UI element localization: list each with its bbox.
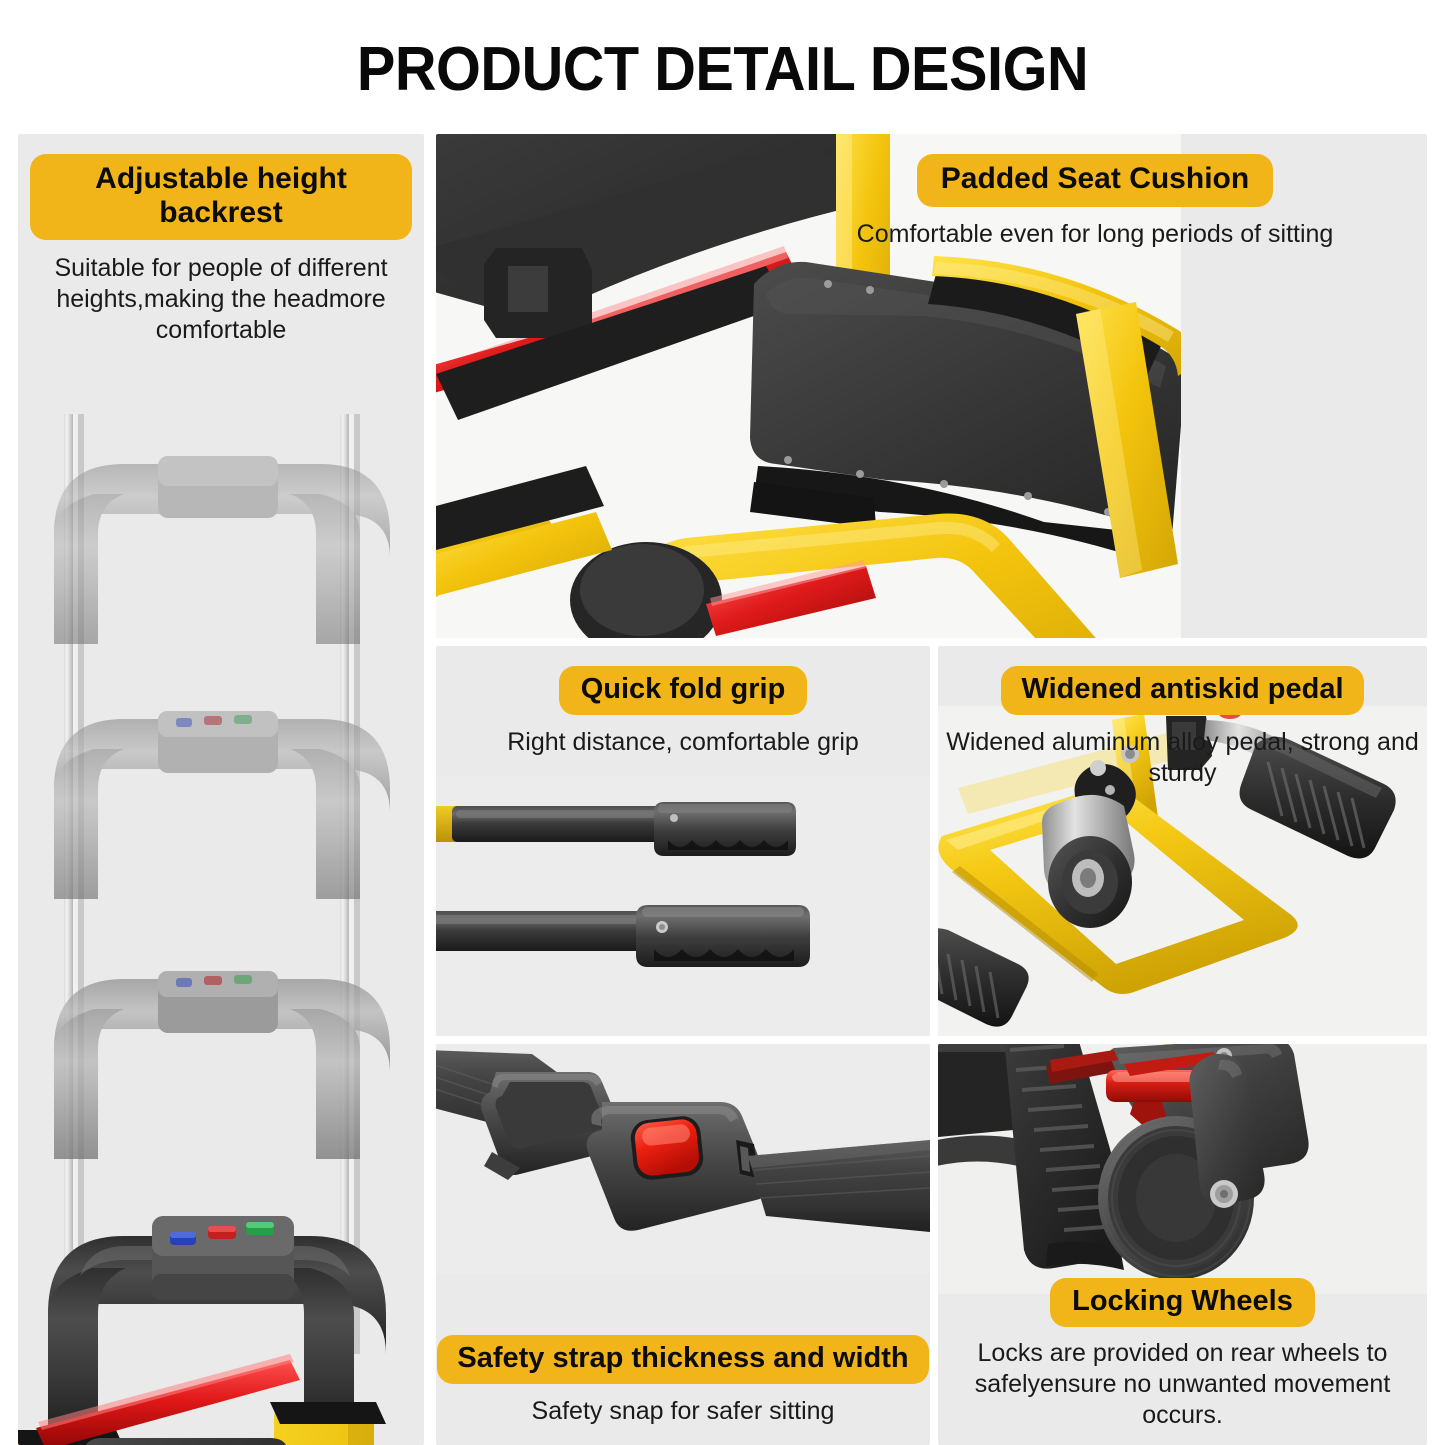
caption-locking-wheels: Locking Wheels Locks are provided on rea… — [938, 1278, 1427, 1431]
badge-widened-antiskid-pedal: Widened antiskid pedal — [1001, 666, 1363, 715]
product-detail-infographic: PRODUCT DETAIL DESIGN — [0, 0, 1445, 1445]
page-title: PRODUCT DETAIL DESIGN — [51, 34, 1395, 105]
caption-adjustable-height-backrest: Adjustable height backrest Suitable for … — [30, 154, 412, 346]
badge-quick-fold-grip: Quick fold grip — [559, 666, 808, 715]
badge-adjustable-height-backrest: Adjustable height backrest — [30, 154, 412, 240]
telescoping-handle-illustration — [18, 364, 424, 1445]
description-adjustable-height-backrest: Suitable for people of different heights… — [30, 253, 412, 346]
badge-locking-wheels: Locking Wheels — [1050, 1278, 1315, 1327]
description-widened-antiskid-pedal: Widened aluminum alloy pedal, strong and… — [938, 727, 1427, 789]
description-padded-seat-cushion: Comfortable even for long periods of sit… — [785, 219, 1405, 250]
badge-padded-seat-cushion: Padded Seat Cushion — [917, 154, 1273, 207]
description-quick-fold-grip: Right distance, comfortable grip — [436, 727, 930, 758]
caption-widened-antiskid-pedal: Widened antiskid pedal Widened aluminum … — [938, 666, 1427, 789]
panel-adjustable-height-backrest: Adjustable height backrest Suitable for … — [18, 134, 424, 1445]
badge-safety-strap: Safety strap thickness and width — [437, 1335, 928, 1384]
caption-padded-seat-cushion: Padded Seat Cushion Comfortable even for… — [785, 154, 1405, 250]
panel-quick-fold-grip: Quick fold grip Right distance, comforta… — [436, 646, 930, 1036]
caption-safety-strap: Safety strap thickness and width Safety … — [436, 1335, 930, 1427]
caption-quick-fold-grip: Quick fold grip Right distance, comforta… — [436, 666, 930, 758]
description-safety-strap: Safety snap for safer sitting — [436, 1396, 930, 1427]
panel-padded-seat-cushion: Padded Seat Cushion Comfortable even for… — [436, 134, 1427, 638]
panel-safety-strap: Safety strap thickness and width Safety … — [436, 1044, 930, 1445]
panel-locking-wheels: Locking Wheels Locks are provided on rea… — [938, 1044, 1427, 1445]
rear-wheel-lock-photo — [938, 1044, 1427, 1294]
seatbelt-buckle-photo — [436, 1044, 930, 1274]
panel-widened-antiskid-pedal: Widened antiskid pedal Widened aluminum … — [938, 646, 1427, 1036]
fold-grip-handles-photo — [436, 776, 930, 1036]
description-locking-wheels: Locks are provided on rear wheels to saf… — [938, 1338, 1427, 1431]
